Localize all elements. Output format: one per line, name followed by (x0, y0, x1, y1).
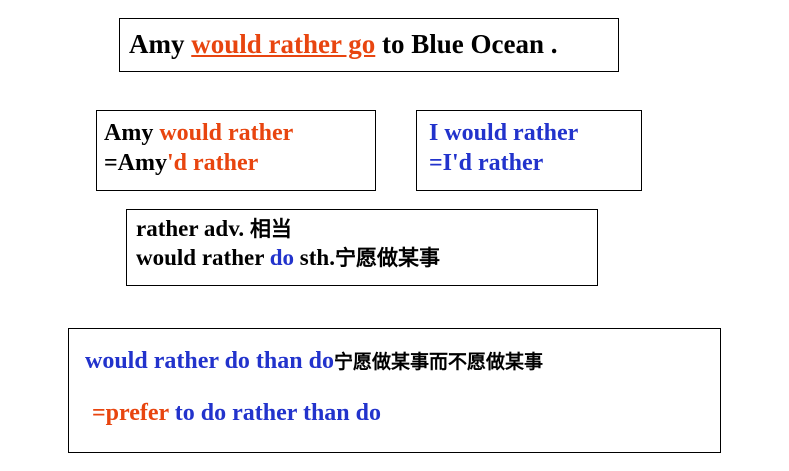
sentence-part3: to Blue Ocean . (375, 29, 557, 59)
than-prefix: would rather (85, 348, 225, 374)
than-chinese-gloss: 宁愿做某事而不愿做某事 (334, 352, 543, 373)
amy-subject: Amy (104, 120, 159, 146)
rather-definition-box: rather adv. 相当 would rather do sth.宁愿做某事 (126, 209, 598, 286)
than-line-2: =prefer to do rather than do (85, 398, 720, 428)
amy-line-2: =Amy'd rather (104, 148, 375, 178)
rather-definition-line: rather adv. 相当 (136, 215, 597, 244)
sentence-box: Amy would rather go to Blue Ocean . (119, 18, 619, 72)
amy-equals-subject: =Amy (104, 150, 167, 176)
sentence-part1: Amy (129, 29, 191, 59)
would-rather-than-box: would rather do than do宁愿做某事而不愿做某事 =pref… (68, 328, 721, 453)
would-rather-sth: sth. (294, 245, 335, 270)
i-line-1: I would rather (429, 118, 641, 148)
amy-phrase: would rather (159, 120, 293, 146)
sentence-line: Amy would rather go to Blue Ocean . (129, 28, 558, 62)
amy-contracted-phrase: 'd rather (167, 150, 258, 176)
than-line-1: would rather do than do宁愿做某事而不愿做某事 (85, 346, 720, 376)
amy-line-1: Amy would rather (104, 118, 375, 148)
rather-chinese-gloss: 相当 (250, 217, 292, 241)
would-rather-prefix: would rather (136, 245, 270, 270)
i-contraction-box: I would rather =I'd rather (416, 110, 642, 191)
sentence-underlined-phrase: would rather go (191, 29, 375, 59)
would-rather-do-line: would rather do sth.宁愿做某事 (136, 244, 597, 273)
than-structure: do than do (225, 348, 334, 374)
would-rather-chinese-gloss: 宁愿做某事 (335, 246, 440, 270)
would-rather-do-verb: do (270, 245, 294, 270)
rather-headword: rather adv. (136, 216, 250, 241)
amy-contraction-box: Amy would rather =Amy'd rather (96, 110, 376, 191)
i-line-2: =I'd rather (429, 148, 641, 178)
prefer-equals: =prefer (92, 400, 175, 426)
prefer-structure: to do rather than do (175, 400, 381, 426)
